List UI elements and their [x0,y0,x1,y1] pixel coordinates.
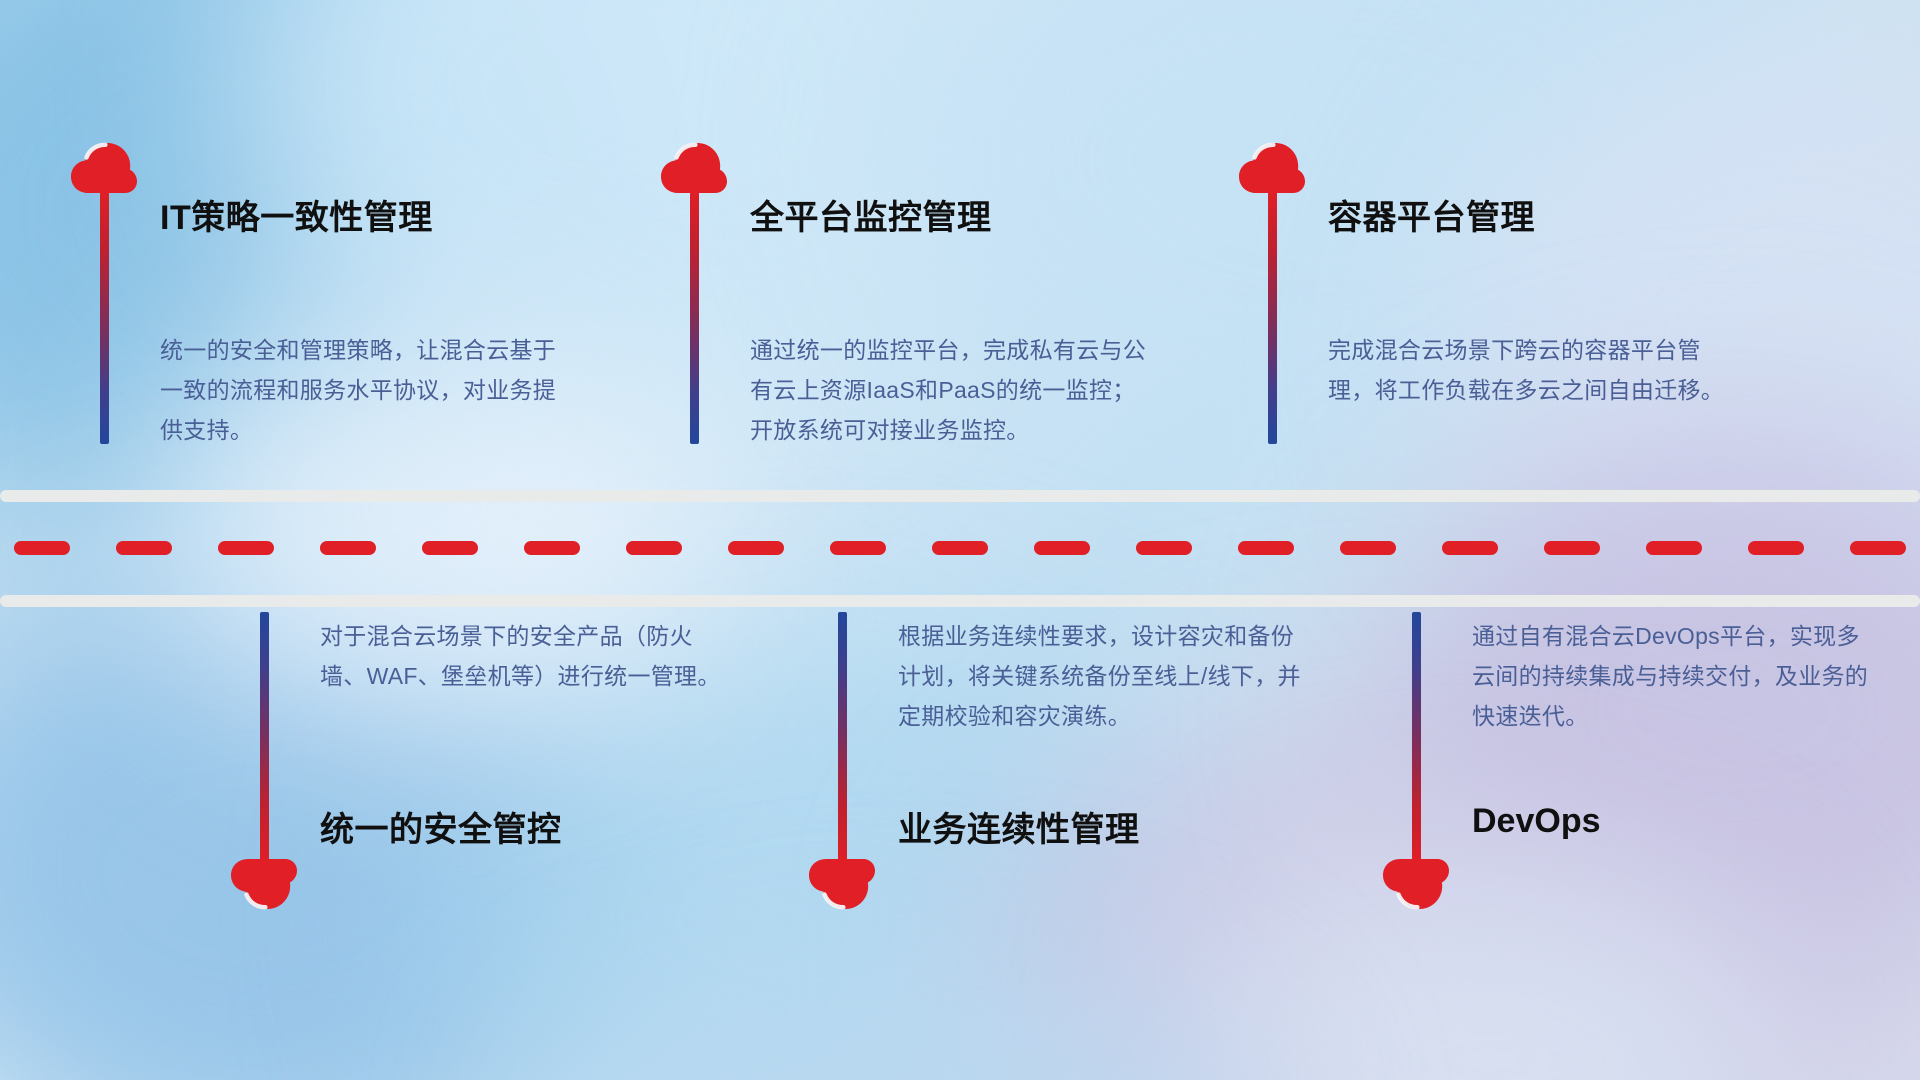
timeline-pole [690,192,699,444]
divider-dash [218,541,274,555]
cloud-pin-icon [230,858,298,910]
top-item-body: 完成混合云场景下跨云的容器平台管理，将工作负载在多云之间自由迁移。 [1328,330,1736,410]
bottom-item-title: 统一的安全管控 [320,802,562,851]
cloud-pin-icon [660,142,728,194]
divider-dash [320,541,376,555]
cloud-pin-icon [1382,858,1450,910]
divider-dash [1136,541,1192,555]
divider-dash [524,541,580,555]
divider-dash [1646,541,1702,555]
top-item-title: 容器平台管理 [1328,190,1535,239]
divider-dash [116,541,172,555]
bottom-item-body: 对于混合云场景下的安全产品（防火墙、WAF、堡垒机等）进行统一管理。 [320,616,728,696]
divider-dash [14,541,70,555]
timeline-pole [260,612,269,862]
divider-dash [932,541,988,555]
divider-dash [626,541,682,555]
cloud-pin-icon [808,858,876,910]
divider-dashed-line [0,541,1920,555]
divider-dash [1544,541,1600,555]
bottom-item-body: 通过自有混合云DevOps平台，实现多云间的持续集成与持续交付，及业务的快速迭代… [1472,616,1880,736]
divider-dash [1748,541,1804,555]
divider-dash [1850,541,1906,555]
top-item-body: 统一的安全和管理策略，让混合云基于一致的流程和服务水平协议，对业务提供支持。 [160,330,568,450]
top-item-body: 通过统一的监控平台，完成私有云与公有云上资源IaaS和PaaS的统一监控；开放系… [750,330,1158,450]
timeline-pole [838,612,847,862]
background-blob [560,980,1260,1080]
timeline-pole [1268,192,1277,444]
infographic-canvas: IT策略一致性管理 统一的安全和管理策略，让混合云基于一致的流程和服务水平协议，… [0,0,1920,1080]
top-item-title: 全平台监控管理 [750,190,992,239]
cloud-pin-icon [70,142,138,194]
top-item-title: IT策略一致性管理 [160,190,433,239]
divider-rail-top [0,490,1920,502]
timeline-pole [1412,612,1421,862]
bottom-item-body: 根据业务连续性要求，设计容灾和备份计划，将关键系统备份至线上/线下，并定期校验和… [898,616,1306,736]
divider-rail-bottom [0,595,1920,607]
divider-dash [1034,541,1090,555]
background-blob [0,0,640,560]
divider-dash [1340,541,1396,555]
divider-dash [1442,541,1498,555]
divider-dash [830,541,886,555]
divider-dash [728,541,784,555]
bottom-item-title: 业务连续性管理 [898,802,1140,851]
timeline-pole [100,192,109,444]
divider-dash [422,541,478,555]
background-blob [1180,850,1800,1080]
divider-dash [1238,541,1294,555]
bottom-item-title: DevOps [1472,802,1601,841]
cloud-pin-icon [1238,142,1306,194]
